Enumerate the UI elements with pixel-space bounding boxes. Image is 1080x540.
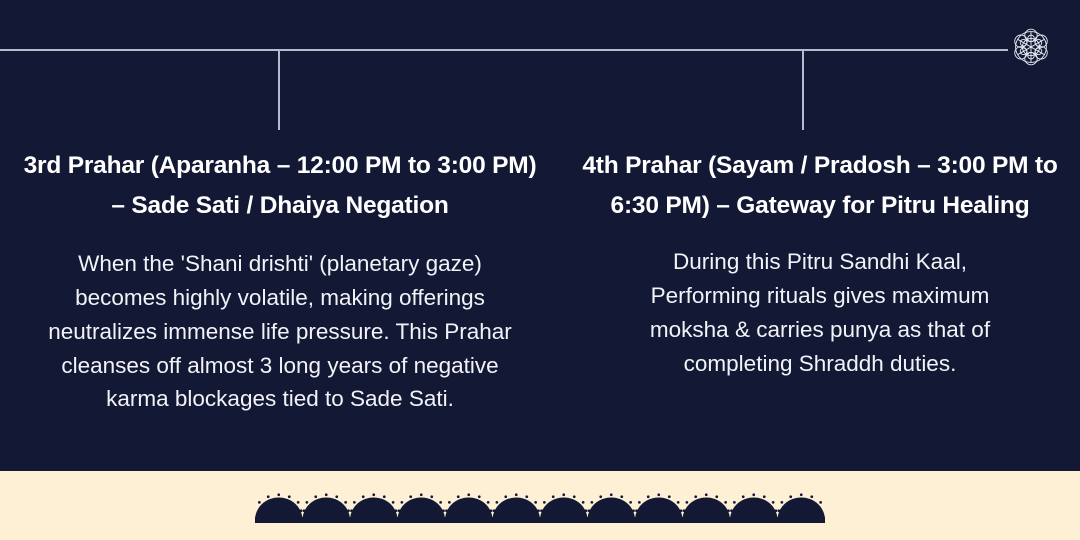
column-divider-right bbox=[802, 50, 804, 130]
prahar-body-third: When the 'Shani drishti' (planetary gaze… bbox=[16, 225, 544, 416]
prahar-body-fourth: During this Pitru Sandhi Kaal, Performin… bbox=[576, 225, 1064, 380]
prahar-column-third: 3rd Prahar (Aparanha – 12:00 PM to 3:00 … bbox=[0, 146, 560, 416]
prahar-heading-third: 3rd Prahar (Aparanha – 12:00 PM to 3:00 … bbox=[16, 146, 544, 225]
mandala-rosette-icon bbox=[1008, 24, 1054, 70]
prahar-heading-fourth: 4th Prahar (Sayam / Pradosh – 3:00 PM to… bbox=[576, 146, 1064, 225]
prahar-columns: 3rd Prahar (Aparanha – 12:00 PM to 3:00 … bbox=[0, 146, 1080, 416]
slide-canvas: 3rd Prahar (Aparanha – 12:00 PM to 3:00 … bbox=[0, 0, 1080, 540]
column-divider-left bbox=[278, 50, 280, 130]
top-horizontal-rule bbox=[0, 49, 1008, 51]
prahar-column-fourth: 4th Prahar (Sayam / Pradosh – 3:00 PM to… bbox=[560, 146, 1080, 380]
scalloped-arch-border bbox=[255, 487, 825, 523]
